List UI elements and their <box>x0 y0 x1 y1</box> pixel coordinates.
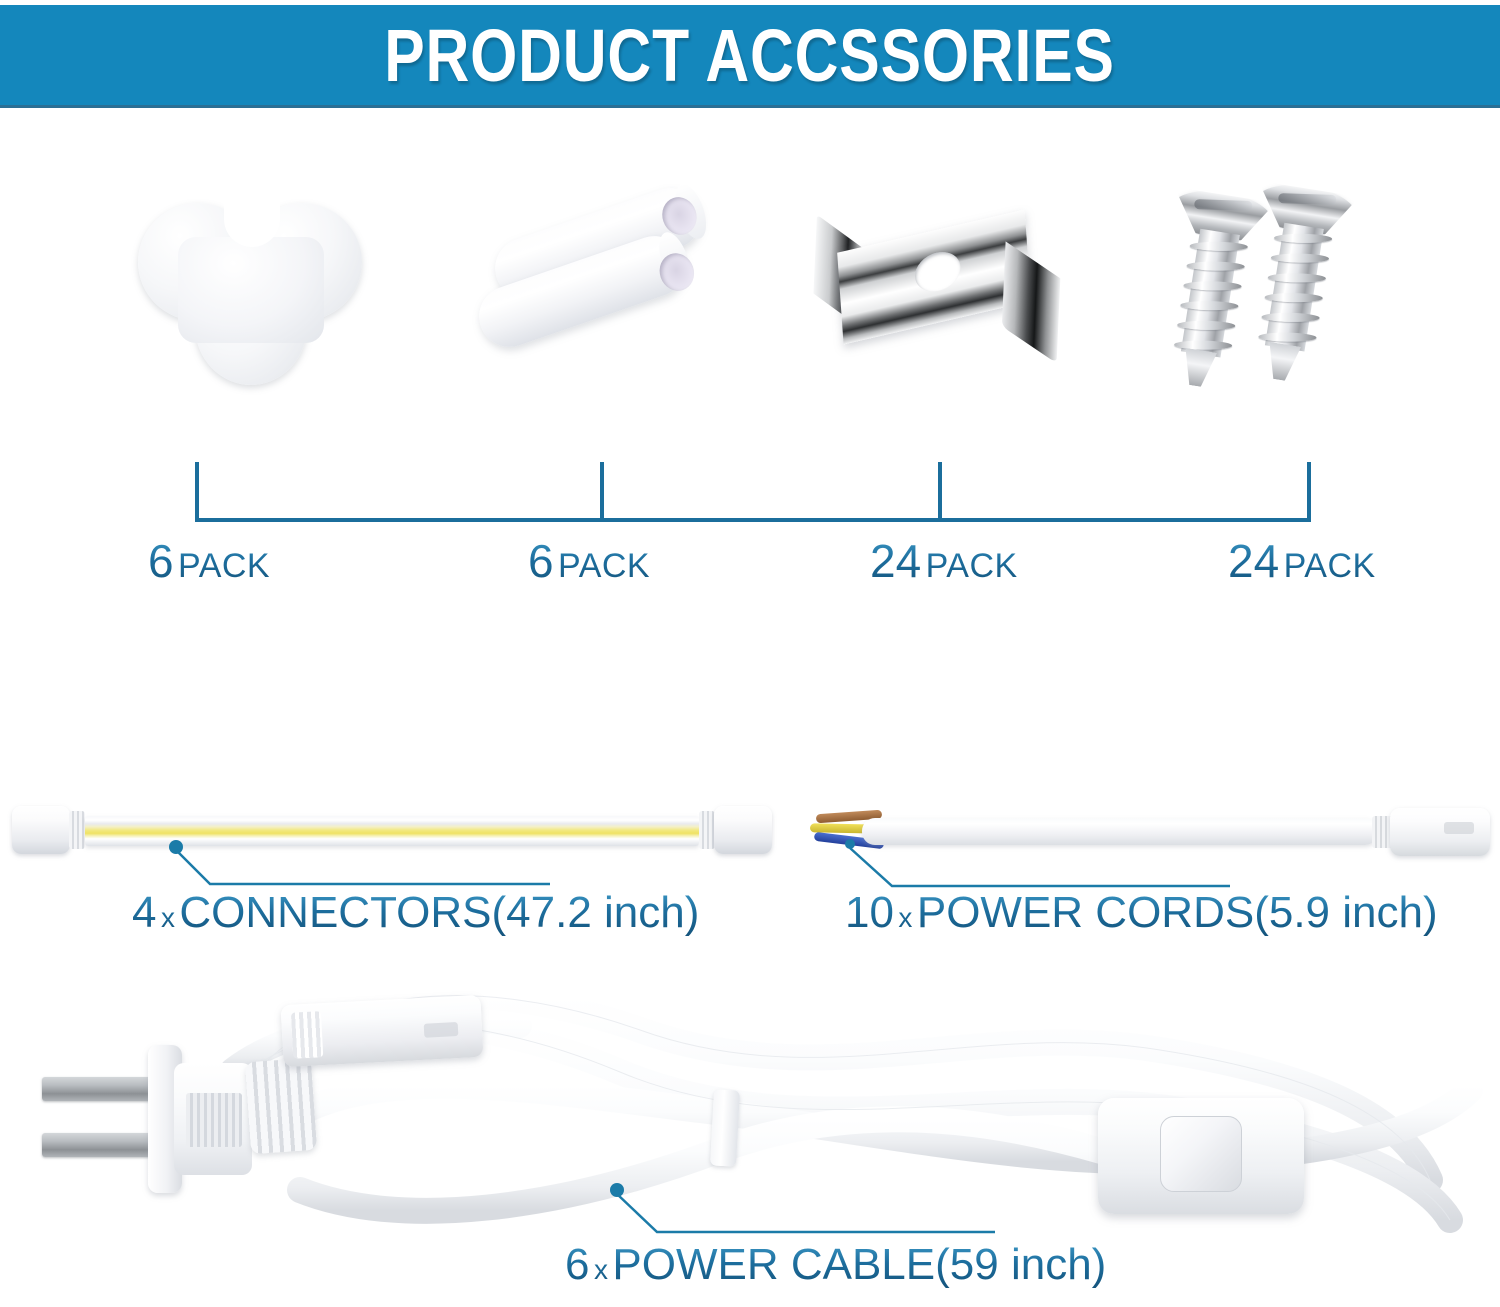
part-cell-metal-clip <box>775 110 1095 470</box>
power-cord-label: POWER CORDS(5.9 inch) <box>917 888 1438 937</box>
cable-tie-icon <box>710 1089 740 1166</box>
pack-label-2: 6 PACK <box>528 534 650 588</box>
bracket-tick <box>600 462 604 522</box>
connector-quantity: 4 <box>132 888 156 937</box>
bracket-tick <box>938 462 942 522</box>
pack-labels: 6 PACK 6 PACK 24 PACK 24 PACK <box>0 534 1500 594</box>
rocker-button[interactable] <box>1160 1116 1242 1192</box>
power-cable-label: POWER CABLE(59 inch) <box>612 1240 1106 1289</box>
pack-unit: PACK <box>1284 547 1376 585</box>
bracket-tick <box>1307 462 1311 522</box>
connector-label: CONNECTORS(47.2 inch) <box>179 888 699 937</box>
parts-row <box>0 110 1500 470</box>
page-title: PRODUCT ACCSSORIES <box>385 13 1116 98</box>
multiplier-symbol: x <box>594 1254 608 1285</box>
pack-unit: PACK <box>558 547 650 585</box>
us-power-plug-icon <box>40 1045 255 1195</box>
tri-lobe-clip-icon <box>138 195 362 385</box>
pack-quantity: 24 <box>870 535 921 587</box>
header-banner: PRODUCT ACCSSORIES <box>0 5 1500 108</box>
pack-quantity: 6 <box>148 535 174 587</box>
parts-bracket <box>0 462 1500 524</box>
inline-rocker-switch-icon[interactable] <box>1098 1098 1304 1214</box>
bracket-tick <box>195 462 199 522</box>
pack-label-3: 24 PACK <box>870 534 1018 588</box>
pack-quantity: 24 <box>1228 535 1279 587</box>
pack-unit: PACK <box>926 547 1018 585</box>
plug-prong <box>42 1133 154 1157</box>
part-cell-tri-lobe-clip <box>70 110 430 470</box>
part-cell-screws <box>1115 110 1455 470</box>
c7-connector-icon <box>281 995 484 1067</box>
power-cable-quantity: 6 <box>565 1240 589 1289</box>
power-cord-quantity: 10 <box>845 888 894 937</box>
screw-pair-icon <box>1165 185 1405 395</box>
plug-prong <box>42 1077 154 1101</box>
multiplier-symbol: x <box>161 902 175 933</box>
caption-power-cords: 10 x POWER CORDS(5.9 inch) <box>845 888 1438 938</box>
caption-connectors: 4 x CONNECTORS(47.2 inch) <box>132 888 699 938</box>
multiplier-symbol: x <box>898 902 912 933</box>
bracket-baseline <box>195 518 1311 522</box>
pack-unit: PACK <box>178 547 270 585</box>
tube-clip-pair-icon <box>475 203 725 378</box>
part-cell-tube-clips <box>430 110 770 470</box>
caption-power-cable: 6 x POWER CABLE(59 inch) <box>565 1240 1106 1290</box>
strain-relief-icon <box>245 1058 317 1154</box>
pack-label-1: 6 PACK <box>148 534 270 588</box>
pack-label-4: 24 PACK <box>1228 534 1376 588</box>
metal-mounting-clip-icon <box>806 193 1064 388</box>
pack-quantity: 6 <box>528 535 554 587</box>
product-accessories-infographic: PRODUCT ACCSSORIES <box>0 0 1500 1307</box>
